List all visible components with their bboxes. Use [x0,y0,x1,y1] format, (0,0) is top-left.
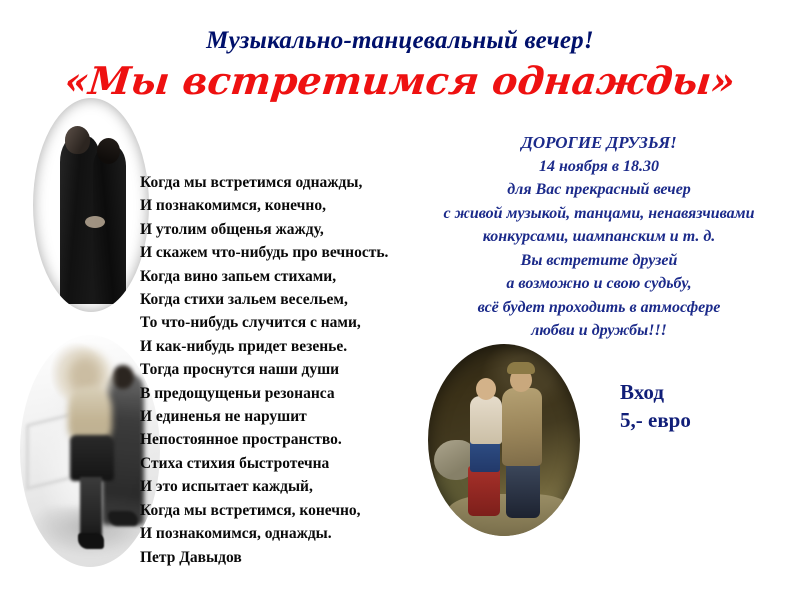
announcement-line: 14 ноября в 18.30 [398,155,800,179]
poem-author: Петр Давыдов [140,546,460,569]
photo-couple-standing-image [33,98,149,312]
dancer-man-head [112,365,134,389]
chair-shape [26,414,69,491]
poem-line: Когда мы встретимся, конечно, [140,499,460,522]
photo-dancing-couple-image [20,335,160,567]
man-head [65,126,90,154]
announcement-line: а возможно и свою судьбу, [398,272,800,296]
poem-line: И единенья не нарушит [140,405,460,428]
painting-man-body [502,388,542,466]
painting-woman-skirt [468,466,500,516]
announcement-text: ДОРОГИЕ ДРУЗЬЯ! 14 ноября в 18.30 для Ва… [398,131,800,343]
woman-head [97,138,120,164]
headline-script-title: «Мы встретимся однажды» [0,58,800,104]
announcement-line: всё будет проходить в атмосфере [398,296,800,320]
clasped-hands [85,216,105,228]
painting-woman-head [476,378,496,400]
announcement-line: конкурсами, шампанским и т. д. [398,225,800,249]
entrance-price: 5,- евро [620,406,691,434]
announcement-line: Вы встретите друзей [398,249,800,273]
poem-line: Стиха стихия быстротечна [140,452,460,475]
painting-woman-body [470,396,502,444]
announcement-line: для Вас прекрасный вечер [398,178,800,202]
painting-man-legs [506,460,540,518]
entrance-price-block: Вход 5,- евро [620,378,691,434]
poem-line: И познакомимся, однажды. [140,522,460,545]
dancer-woman-shoe [78,533,104,549]
poem-line: В предощущеньи резонанса [140,382,460,405]
entrance-label: Вход [620,378,691,406]
poem-line: И это испытает каждый, [140,475,460,498]
headline-primary: Музыкально-танцевальный вечер! [0,27,800,55]
announcement-line: любви и дружбы!!! [398,319,800,343]
poem-line: Тогда проснутся наши души [140,358,460,381]
poem-line: Непостоянное пространство. [140,428,460,451]
announcement-line: ДОРОГИЕ ДРУЗЬЯ! [398,131,800,155]
announcement-line: с живой музыкой, танцами, ненавязчивами [398,202,800,226]
dancer-woman-skirt [70,435,114,481]
dancer-man-shoe [108,511,138,526]
poster: Музыкально-танцевальный вечер! «Мы встре… [0,0,800,600]
painting-man-hat [507,362,535,374]
